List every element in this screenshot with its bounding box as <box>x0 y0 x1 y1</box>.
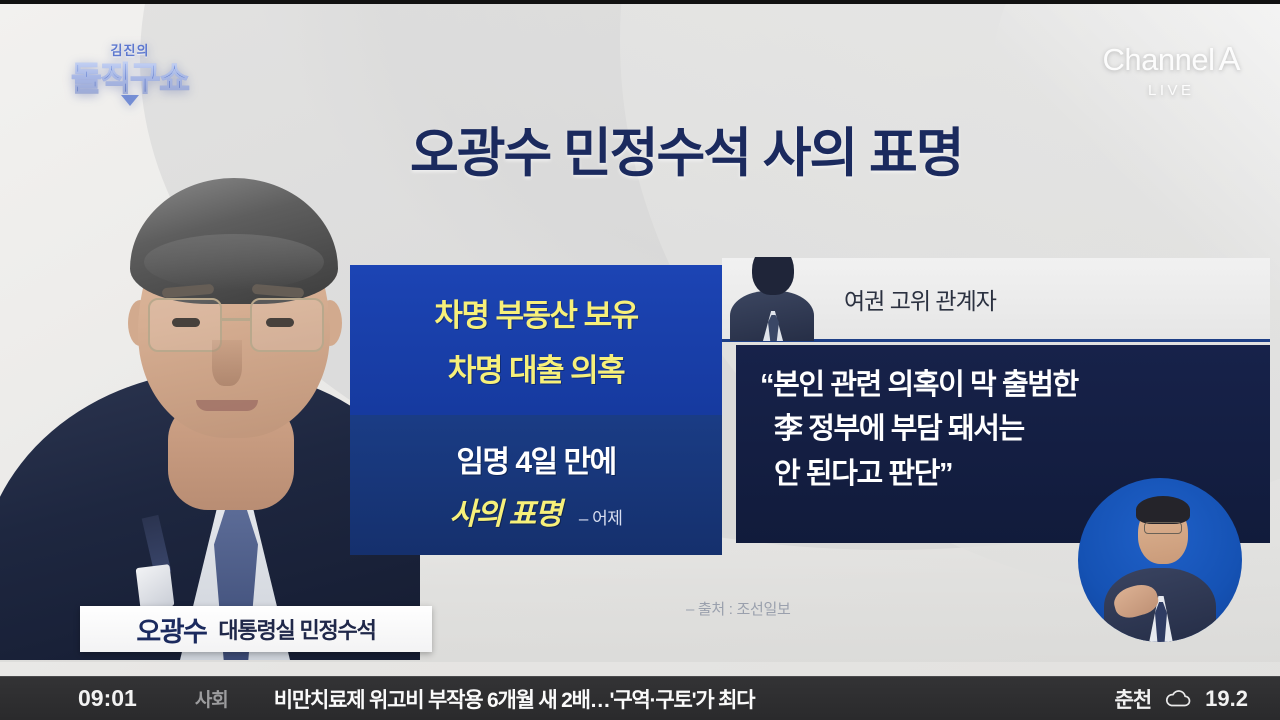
ticker-category: 사회 <box>195 685 228 712</box>
resignation-row-2: 사의 표명 – 어제 <box>450 489 623 533</box>
cloud-icon <box>1163 689 1193 709</box>
anchor-inset-avatar <box>1078 478 1242 642</box>
anchor-glasses <box>1144 522 1182 534</box>
nameplate-title: 대통령실 민정수석 <box>218 613 375 645</box>
subject-id-badge <box>136 564 175 610</box>
subject-nose <box>212 340 242 386</box>
quote-line-2: 李 정부에 부담 돼서는 <box>760 407 1270 451</box>
page-title: 오광수 민정수석 사의 표명 <box>410 126 1130 182</box>
nameplate-name: 오광수 <box>136 610 206 649</box>
glasses-bridge <box>222 318 250 321</box>
show-logo: 김진의 돌직구쇼 <box>50 30 210 116</box>
allegation-line-2: 차명 대출 의혹 <box>448 345 624 390</box>
speaker-silhouette-icon <box>722 257 818 341</box>
subject-nameplate: 오광수 대통령실 민정수석 <box>80 606 432 652</box>
weather-city: 춘천 <box>1115 684 1152 714</box>
live-indicator: LIVE <box>1103 82 1241 99</box>
ticker-clock: 09:01 <box>78 685 137 712</box>
speaker-attribution-bar: 여권 고위 관계자 <box>722 258 1270 342</box>
resignation-line-2: 사의 표명 <box>450 489 561 533</box>
allegation-line-1: 차명 부동산 보유 <box>434 290 637 335</box>
ticker-headline: 비만치료제 위고비 부작용 6개월 새 2배…'구역·구토'가 최다 <box>274 684 755 714</box>
show-logo-title: 돌직구쇼 <box>65 60 194 97</box>
show-logo-subtitle: 김진의 <box>111 40 150 59</box>
quote-line-1: “본인 관련 의혹이 막 출범한 <box>760 363 1270 407</box>
allegations-panel: 차명 부동산 보유 차명 대출 의혹 <box>350 265 722 415</box>
glasses-lens-right <box>250 298 324 352</box>
channel-name-text: Channel <box>1103 42 1215 77</box>
top-letterbox-edge <box>0 0 1280 4</box>
resignation-line-1: 임명 4일 만에 <box>456 437 615 481</box>
source-credit: – 출처 : 조선일보 <box>686 598 791 619</box>
channel-bug: ChannelA LIVE <box>1103 40 1241 99</box>
subject-hair <box>130 178 338 304</box>
silhouette-head <box>752 257 794 295</box>
channel-a-mark: A <box>1218 40 1240 77</box>
weather-widget: 춘천 19.2 <box>1115 684 1248 714</box>
resignation-note: – 어제 <box>579 504 622 529</box>
subject-mouth <box>196 400 258 411</box>
anchor-hair <box>1136 496 1190 524</box>
news-ticker-bar: 09:01 사회 비만치료제 위고비 부작용 6개월 새 2배…'구역·구토'가… <box>0 676 1280 720</box>
show-logo-speech-tail <box>121 95 139 106</box>
resignation-panel: 임명 4일 만에 사의 표명 – 어제 <box>350 415 722 555</box>
channel-name: ChannelA <box>1103 40 1241 78</box>
speaker-label: 여권 고위 관계자 <box>844 282 996 316</box>
weather-temperature: 19.2 <box>1205 686 1248 712</box>
glasses-lens-left <box>148 298 222 352</box>
broadcast-screen: 김진의 돌직구쇼 ChannelA LIVE 오광수 민정수석 사의 표명 <box>0 0 1280 720</box>
